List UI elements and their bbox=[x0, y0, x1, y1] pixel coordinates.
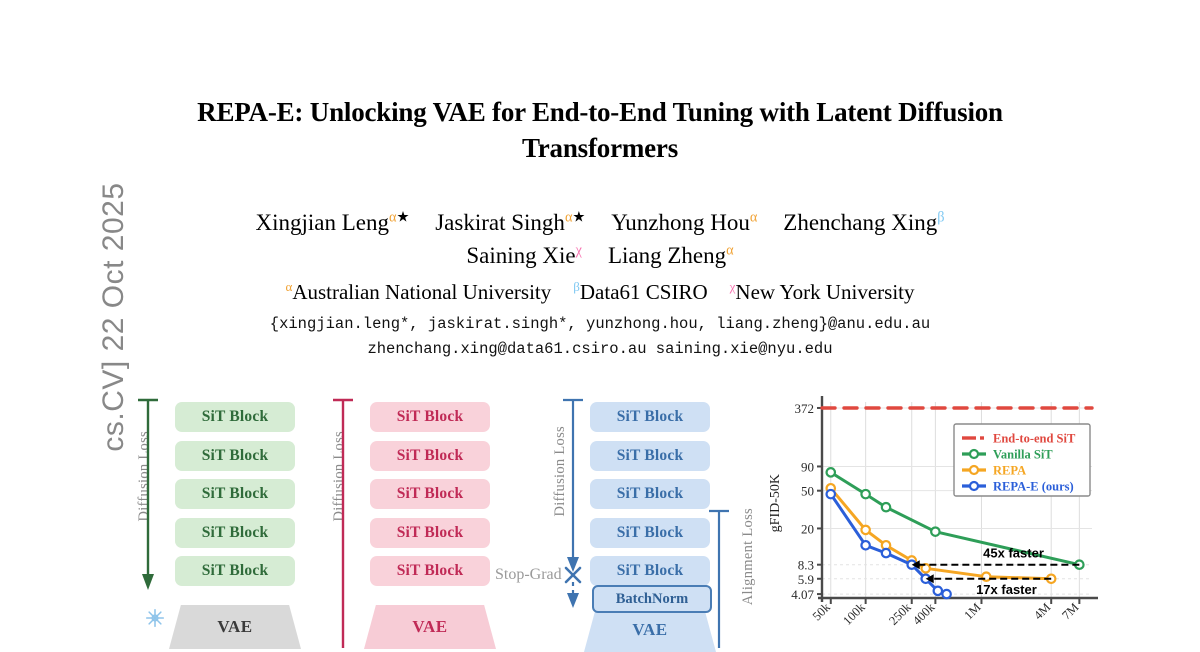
author-name: Jaskirat Singh bbox=[435, 210, 565, 235]
affiliation-entry: αAustralian National University bbox=[285, 280, 551, 304]
sit-block: SiT Block bbox=[370, 441, 490, 471]
author-marks: β bbox=[937, 209, 944, 225]
affiliation-entry: χNew York University bbox=[730, 280, 915, 304]
affiliation-name: New York University bbox=[735, 280, 914, 304]
sit-block: SiT Block bbox=[175, 518, 295, 548]
email-line: zhenchang.xing@data61.csiro.au saining.x… bbox=[150, 337, 1050, 362]
author-name: Xingjian Leng bbox=[255, 210, 389, 235]
author-entry: Zhenchang Xingβ bbox=[783, 210, 944, 235]
author-entry: Saining Xieχ bbox=[466, 243, 582, 268]
figure-panel-end-to-end-sit: Diffusion Loss SiT Block SiT Block SiT B… bbox=[325, 386, 515, 648]
sit-block: SiT Block bbox=[590, 402, 710, 432]
svg-text:4M: 4M bbox=[1031, 600, 1053, 622]
sit-block: SiT Block bbox=[370, 479, 490, 509]
author-entry: Liang Zhengα bbox=[608, 243, 734, 268]
svg-text:17x faster: 17x faster bbox=[976, 582, 1037, 597]
svg-text:End-to-end SiT: End-to-end SiT bbox=[993, 432, 1076, 446]
svg-text:REPA: REPA bbox=[993, 464, 1026, 478]
author-marks: α bbox=[750, 209, 757, 225]
sit-block: SiT Block bbox=[590, 479, 710, 509]
author-name: Liang Zheng bbox=[608, 243, 726, 268]
svg-text:50: 50 bbox=[801, 484, 814, 499]
sit-block: SiT Block bbox=[590, 441, 710, 471]
svg-text:45x faster: 45x faster bbox=[983, 546, 1044, 561]
svg-text:Vanilla SiT: Vanilla SiT bbox=[993, 448, 1053, 462]
svg-text:7M: 7M bbox=[1059, 600, 1081, 622]
svg-text:4.07: 4.07 bbox=[791, 587, 814, 602]
vae-box: VAE bbox=[584, 608, 716, 652]
sit-block: SiT Block bbox=[370, 518, 490, 548]
sit-block: SiT Block bbox=[370, 556, 490, 586]
sit-block: SiT Block bbox=[175, 556, 295, 586]
sit-block: SiT Block bbox=[590, 556, 710, 586]
author-name: Yunzhong Hou bbox=[611, 210, 750, 235]
svg-text:REPA-E (ours): REPA-E (ours) bbox=[993, 480, 1074, 494]
svg-text:1M: 1M bbox=[961, 600, 983, 622]
vae-box: VAE bbox=[169, 605, 301, 649]
affiliation-entry: βData61 CSIRO bbox=[573, 280, 707, 304]
author-name: Zhenchang Xing bbox=[783, 210, 937, 235]
paper-page: cs.CV] 22 Oct 2025 REPA-E: Unlocking VAE… bbox=[0, 0, 1200, 648]
svg-text:5.9: 5.9 bbox=[798, 572, 814, 587]
gfid-convergence-chart: gFID-50K 3729050208.35.94.0750k100k250k4… bbox=[770, 386, 1100, 648]
svg-text:100k: 100k bbox=[840, 600, 868, 628]
affiliation-mark: β bbox=[573, 279, 580, 294]
affiliation-name: Australian National University bbox=[292, 280, 551, 304]
figure-panel-repa-e: Diffusion Loss Alignment Loss Stop-Grad … bbox=[495, 386, 770, 648]
svg-text:372: 372 bbox=[795, 401, 815, 416]
sit-block: SiT Block bbox=[175, 402, 295, 432]
author-marks: α★ bbox=[565, 209, 585, 225]
author-list: Xingjian Lengα★Jaskirat Singhα★Yunzhong … bbox=[150, 207, 1050, 272]
email-block: {xingjian.leng*, jaskirat.singh*, yunzho… bbox=[150, 312, 1050, 362]
sit-block: SiT Block bbox=[175, 441, 295, 471]
author-entry: Jaskirat Singhα★ bbox=[435, 210, 585, 235]
affiliation-name: Data61 CSIRO bbox=[580, 280, 708, 304]
affiliation-list: αAustralian National UniversityβData61 C… bbox=[150, 280, 1050, 305]
email-line: {xingjian.leng*, jaskirat.singh*, yunzho… bbox=[150, 312, 1050, 337]
author-marks: α bbox=[726, 242, 733, 258]
svg-text:250k: 250k bbox=[886, 600, 914, 628]
author-marks: α★ bbox=[389, 209, 409, 225]
author-entry: Yunzhong Houα bbox=[611, 210, 757, 235]
batchnorm-box: BatchNorm bbox=[592, 585, 712, 613]
vae-box: VAE bbox=[364, 605, 496, 649]
sit-block: SiT Block bbox=[370, 402, 490, 432]
sit-block: SiT Block bbox=[175, 479, 295, 509]
author-marks: χ bbox=[576, 242, 582, 258]
svg-text:90: 90 bbox=[801, 459, 814, 474]
figure-panel-vanilla-sit: Diffusion Loss SiT Block SiT Block SiT B… bbox=[130, 386, 320, 648]
svg-text:400k: 400k bbox=[910, 600, 938, 628]
sit-block: SiT Block bbox=[590, 518, 710, 548]
snowflake-icon bbox=[144, 607, 166, 629]
author-entry: Xingjian Lengα★ bbox=[255, 210, 409, 235]
stop-grad-label: Stop-Grad bbox=[495, 566, 562, 584]
page-title: REPA-E: Unlocking VAE for End-to-End Tun… bbox=[160, 95, 1040, 167]
author-name: Saining Xie bbox=[466, 243, 575, 268]
svg-text:20: 20 bbox=[801, 521, 814, 536]
svg-text:8.3: 8.3 bbox=[798, 558, 814, 573]
chart-canvas: 3729050208.35.94.0750k100k250k400k1M4M7M… bbox=[770, 386, 1100, 648]
teaser-figure: Diffusion Loss SiT Block SiT Block SiT B… bbox=[0, 386, 1200, 648]
